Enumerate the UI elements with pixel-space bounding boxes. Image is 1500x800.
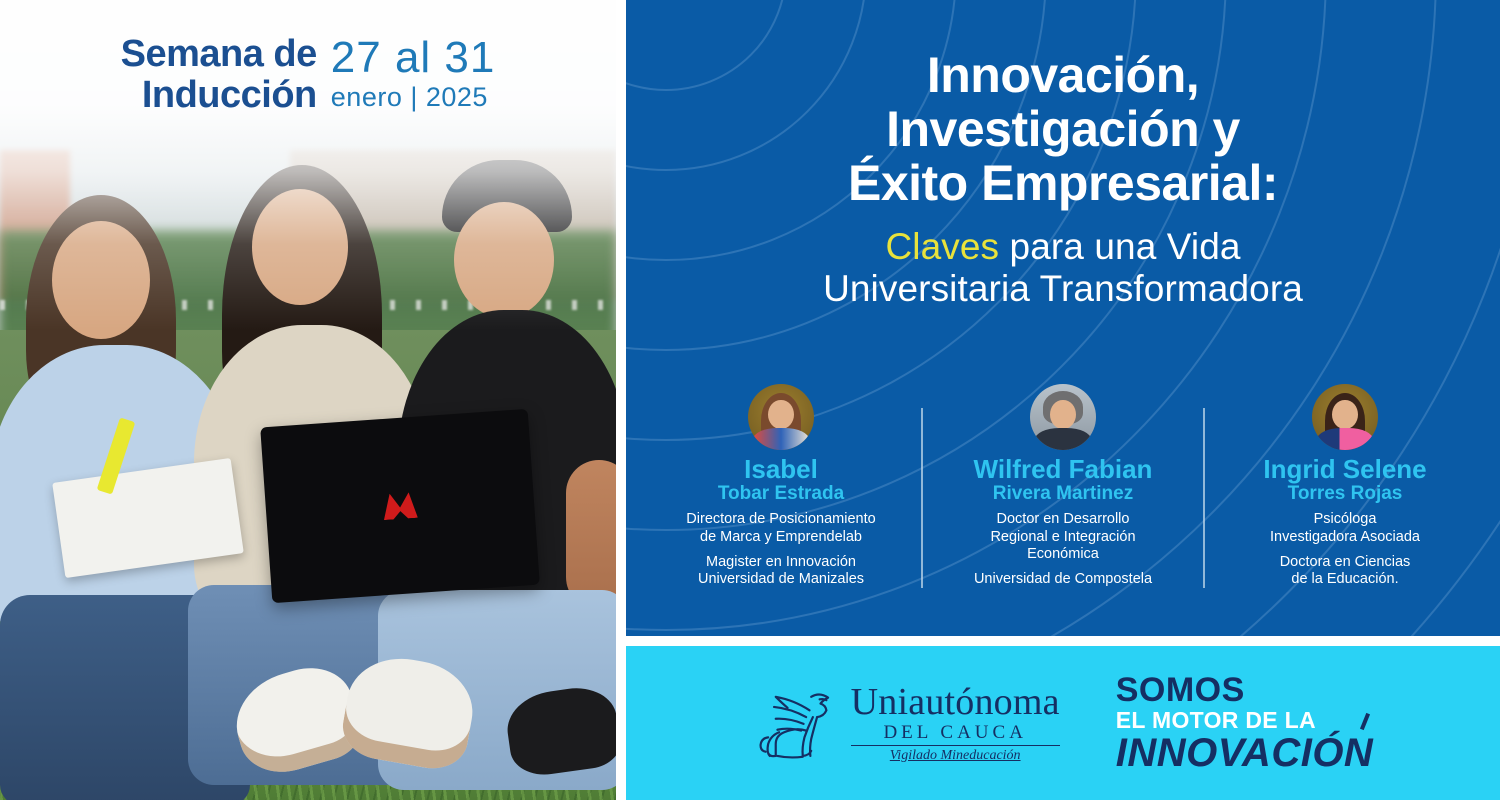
avatar bbox=[1030, 384, 1096, 450]
main-title-line2: Investigación y bbox=[626, 102, 1500, 156]
speaker-divider bbox=[921, 408, 923, 588]
speaker-last-name: Rivera Martinez bbox=[929, 484, 1197, 505]
speaker-role: Psicóloga Investigadora Asociada bbox=[1211, 511, 1479, 545]
avatar-face bbox=[768, 400, 793, 429]
griffin-icon bbox=[753, 685, 839, 761]
avatar-face bbox=[1332, 400, 1357, 429]
speakers-list: Isabel Tobar Estrada Directora de Posici… bbox=[636, 384, 1490, 588]
speaker-affiliation: Universidad de Compostela bbox=[929, 571, 1197, 588]
event-date-days: 27 al 31 bbox=[331, 36, 496, 80]
university-name: Uniautónoma bbox=[851, 683, 1060, 721]
university-wordmark: Uniautónoma DEL CAUCA Vigilado Mineducac… bbox=[851, 683, 1060, 763]
university-sub: DEL CAUCA bbox=[851, 723, 1060, 746]
student-right-arm bbox=[566, 460, 616, 610]
event-heading: Semana de Inducción 27 al 31 enero | 202… bbox=[0, 34, 616, 116]
speaker-affiliation: Magister en Innovación Universidad de Ma… bbox=[647, 554, 915, 588]
speaker-role: Doctor en Desarrollo Regional e Integrac… bbox=[929, 511, 1197, 562]
slogan-line1: SOMOS bbox=[1116, 673, 1374, 707]
speaker-divider bbox=[1203, 408, 1205, 588]
speaker-card-ingrid: Ingrid Selene Torres Rojas Psicóloga Inv… bbox=[1205, 384, 1485, 588]
main-content-panel: Innovación, Investigación y Éxito Empres… bbox=[626, 0, 1500, 636]
main-subtitle-line2: Universitaria Transformadora bbox=[626, 268, 1500, 310]
university-vigilado: Vigilado Mineducación bbox=[851, 749, 1060, 763]
event-date: 27 al 31 enero | 2025 bbox=[331, 34, 496, 111]
slogan-block: SOMOS EL MOTOR DE LA INNOVACIÓN bbox=[1116, 673, 1374, 773]
speaker-first-name: Ingrid Selene bbox=[1211, 456, 1479, 483]
speaker-first-name: Wilfred Fabian bbox=[929, 456, 1197, 483]
event-title-line1: Semana de bbox=[121, 34, 317, 75]
event-title-line2: Inducción bbox=[121, 75, 317, 116]
main-title-line3: Éxito Empresarial: bbox=[626, 156, 1500, 210]
speaker-last-name: Tobar Estrada bbox=[647, 484, 915, 505]
main-title: Innovación, Investigación y Éxito Empres… bbox=[626, 48, 1500, 210]
avatar bbox=[1312, 384, 1378, 450]
main-subtitle: Claves para una Vida Universitaria Trans… bbox=[626, 226, 1500, 310]
speaker-card-isabel: Isabel Tobar Estrada Directora de Posici… bbox=[641, 384, 921, 588]
speaker-first-name: Isabel bbox=[647, 456, 915, 483]
avatar-clothing bbox=[1317, 428, 1372, 450]
university-logo: Uniautónoma DEL CAUCA Vigilado Mineducac… bbox=[753, 683, 1060, 763]
avatar-clothing bbox=[1035, 428, 1090, 450]
laptop bbox=[260, 409, 540, 603]
slogan-line3: INNOVACIÓN bbox=[1116, 733, 1374, 773]
event-date-month: enero | 2025 bbox=[331, 84, 496, 111]
main-subtitle-line1: Claves para una Vida bbox=[626, 226, 1500, 268]
speaker-role: Directora de Posicionamiento de Marca y … bbox=[647, 511, 915, 545]
subtitle-highlight: Claves bbox=[885, 226, 999, 267]
avatar-clothing bbox=[753, 428, 808, 450]
main-title-block: Innovación, Investigación y Éxito Empres… bbox=[626, 48, 1500, 310]
subtitle-rest: para una Vida bbox=[999, 226, 1240, 267]
footer-bar: Uniautónoma DEL CAUCA Vigilado Mineducac… bbox=[626, 646, 1500, 800]
speaker-card-wilfred: Wilfred Fabian Rivera Martinez Doctor en… bbox=[923, 384, 1203, 588]
speaker-affiliation: Doctora en Ciencias de la Educación. bbox=[1211, 554, 1479, 588]
speaker-last-name: Torres Rojas bbox=[1211, 484, 1479, 505]
event-title: Semana de Inducción bbox=[121, 34, 317, 116]
avatar-face bbox=[1050, 400, 1075, 429]
avatar bbox=[748, 384, 814, 450]
slogan-line2: EL MOTOR DE LA bbox=[1116, 709, 1374, 732]
students-photo: Semana de Inducción 27 al 31 enero | 202… bbox=[0, 0, 616, 800]
promotional-banner: Semana de Inducción 27 al 31 enero | 202… bbox=[0, 0, 1500, 800]
main-title-line1: Innovación, bbox=[626, 48, 1500, 102]
